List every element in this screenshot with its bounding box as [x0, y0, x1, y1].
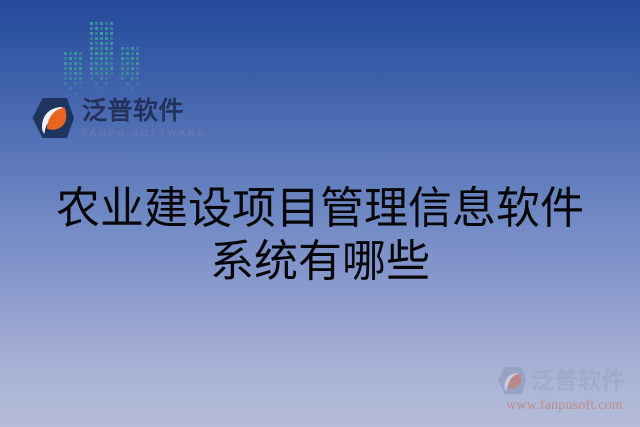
watermark: 泛普软件 www.fanpusoft.com — [497, 366, 632, 413]
brand-wordmark: 泛普软件 FANPU SOFTWARE — [82, 97, 206, 139]
page-title-line-2: 系统有哪些 — [0, 235, 640, 288]
brand-name-cn: 泛普软件 — [82, 99, 206, 124]
fanpu-hexagon-logo-watermark-icon — [497, 366, 527, 395]
pixel-city-skyline-icon — [60, 16, 152, 102]
brand-name-en: FANPU SOFTWARE — [82, 129, 206, 139]
page-title-line-1: 农业建设项目管理信息软件 — [0, 182, 640, 235]
watermark-logo-row: 泛普软件 — [497, 366, 632, 395]
page-title: 农业建设项目管理信息软件 系统有哪些 — [0, 182, 640, 288]
promo-banner: 泛普软件 FANPU SOFTWARE 农业建设项目管理信息软件 系统有哪些 泛… — [0, 0, 640, 427]
brand-logo: 泛普软件 FANPU SOFTWARE — [31, 97, 206, 139]
watermark-name-cn: 泛普软件 — [531, 369, 625, 392]
watermark-url: www.fanpusoft.com — [497, 399, 632, 413]
fanpu-hexagon-logo-icon — [31, 97, 75, 139]
